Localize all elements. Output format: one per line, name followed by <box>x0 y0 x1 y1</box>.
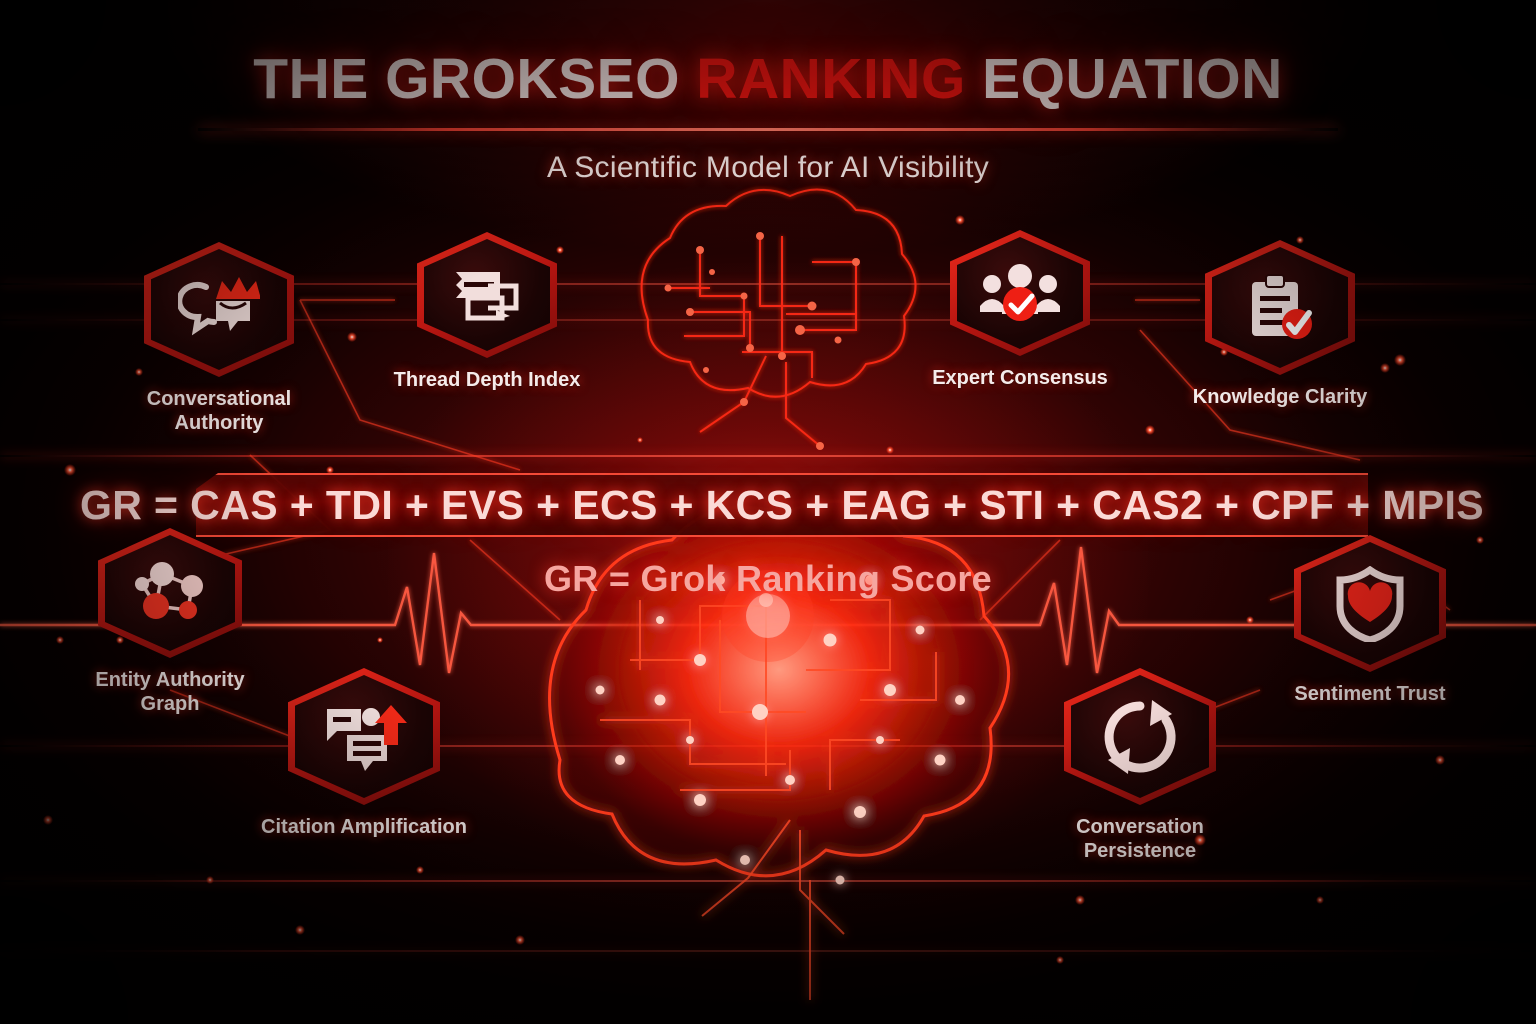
node-citation-amplification[interactable]: Citation Amplification <box>252 668 476 839</box>
node-label: Knowledge Clarity <box>1168 385 1392 409</box>
node-label: Sentiment Trust <box>1255 682 1485 706</box>
node-label: Conversation Persistence <box>1020 815 1260 863</box>
people-check-icon <box>978 262 1062 324</box>
refresh-cycle-icon <box>1100 698 1180 776</box>
node-label: Thread Depth Index <box>372 368 602 392</box>
hexagon-badge <box>98 528 242 658</box>
title-part-1: THE GROKSEO <box>253 47 696 111</box>
page-subtitle: A Scientific Model for AI Visibility <box>0 151 1536 185</box>
node-knowledge-clarity[interactable]: Knowledge Clarity <box>1168 240 1392 409</box>
hexagon-inner <box>1301 542 1439 665</box>
hexagon-badge <box>1294 535 1446 672</box>
network-graph-icon <box>130 558 210 628</box>
scan-line <box>0 455 1536 457</box>
scan-line <box>0 745 1536 747</box>
node-conversation-persistence[interactable]: Conversation Persistence <box>1020 668 1260 863</box>
bubbles-up-arrow-icon <box>321 701 407 773</box>
infographic-canvas: THE GROKSEO RANKING EQUATION A Scientifi… <box>0 0 1536 1024</box>
shield-heart-icon <box>1334 566 1406 642</box>
equation-banner: GR = CAS + TDI + EVS + ECS + KCS + EAG +… <box>196 473 1368 537</box>
node-label: Expert Consensus <box>908 366 1132 390</box>
hexagon-inner <box>105 535 235 651</box>
page-title: THE GROKSEO RANKING EQUATION <box>0 46 1536 112</box>
title-accent-word: RANKING <box>696 47 966 111</box>
hexagon-inner <box>424 239 550 351</box>
node-expert-consensus[interactable]: Expert Consensus <box>908 230 1132 390</box>
hexagon-inner <box>1071 675 1209 798</box>
clipboard-check-icon <box>1242 272 1318 344</box>
scan-line <box>0 950 1536 952</box>
equation-formula: GR = CAS + TDI + EVS + ECS + KCS + EAG +… <box>196 473 1368 537</box>
hexagon-badge <box>144 242 294 377</box>
hexagon-inner <box>1212 247 1348 368</box>
header: THE GROKSEO RANKING EQUATION A Scientifi… <box>0 46 1536 185</box>
hexagon-badge <box>1205 240 1355 375</box>
scan-line <box>0 880 1536 882</box>
node-label: Entity Authority Graph <box>62 668 278 716</box>
title-divider <box>198 128 1338 131</box>
title-part-2: EQUATION <box>966 47 1283 111</box>
node-label: Citation Amplification <box>252 815 476 839</box>
hexagon-badge <box>950 230 1090 356</box>
hexagon-badge <box>1064 668 1216 805</box>
node-entity-authority-graph[interactable]: Entity Authority Graph <box>62 528 278 716</box>
hexagon-inner <box>151 249 287 370</box>
node-thread-depth-index[interactable]: Thread Depth Index <box>372 232 602 392</box>
hexagon-inner <box>957 237 1083 349</box>
hexagon-inner <box>295 675 433 798</box>
speech-bubbles-crown-icon <box>178 277 260 343</box>
stacked-threads-icon <box>448 264 526 326</box>
node-conversational-authority[interactable]: Conversational Authority <box>104 242 334 435</box>
hexagon-badge <box>417 232 557 358</box>
node-sentiment-trust[interactable]: Sentiment Trust <box>1255 535 1485 706</box>
hexagon-badge <box>288 668 440 805</box>
node-label: Conversational Authority <box>104 387 334 435</box>
